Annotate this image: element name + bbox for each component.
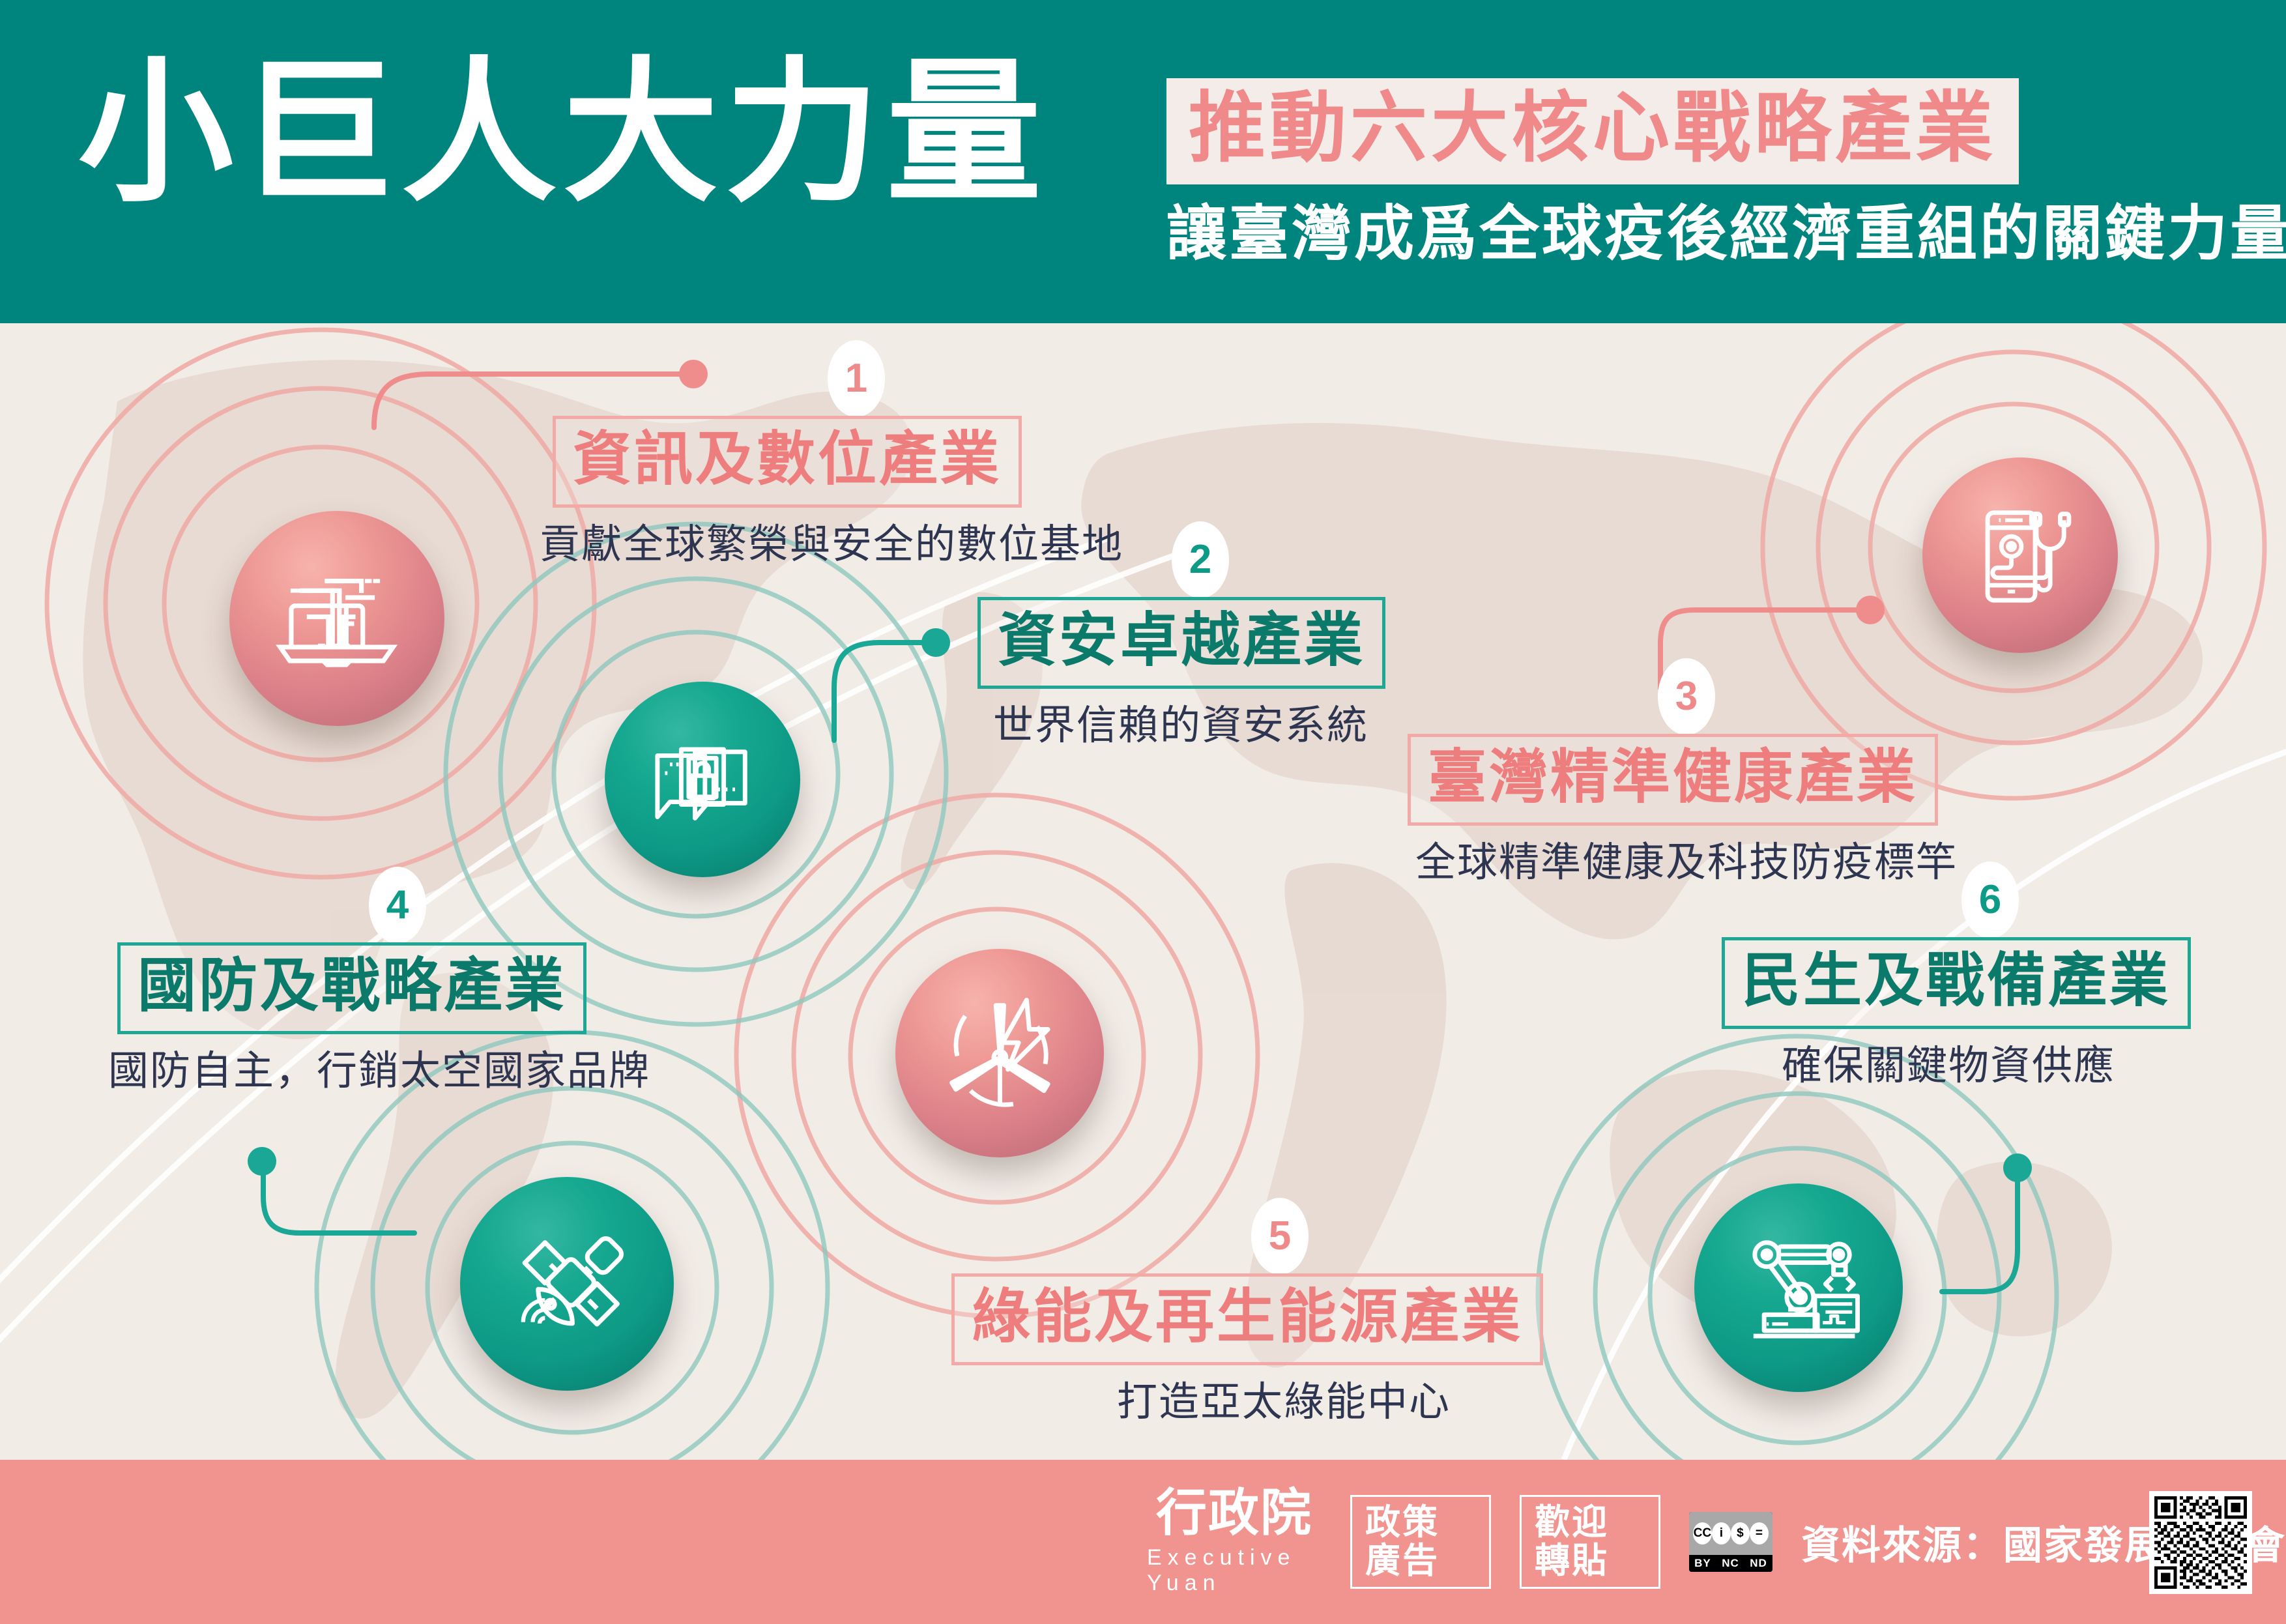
- share-welcome-tag: 歡迎轉貼: [1520, 1495, 1660, 1589]
- chat-lock-icon: [640, 717, 765, 842]
- satellite-icon: [499, 1215, 635, 1352]
- icon-sphere-5: [895, 949, 1104, 1157]
- org-name-en: Executive Yuan: [1147, 1545, 1322, 1596]
- poster-footer: 行政院 Executive Yuan 政策廣告 歡迎轉貼 CC i $ = BY…: [0, 1460, 2286, 1624]
- cc-labels-row: BY NC ND: [1689, 1555, 1772, 1572]
- robot-arm-icon: [1732, 1221, 1866, 1355]
- item-5-number: 5: [1251, 1198, 1309, 1275]
- item-1-number: 1: [828, 340, 885, 417]
- item-2-subtitle: 世界信賴的資安系統: [993, 702, 1385, 750]
- creative-commons-badge: CC i $ = BY NC ND: [1689, 1512, 1772, 1572]
- qr-code-image: [2154, 1496, 2247, 1589]
- header-tagline: 讓臺灣成爲全球疫後經濟重組的關鍵力量: [1166, 201, 2209, 267]
- item-3-title: 臺灣精準健康產業: [1408, 734, 1938, 826]
- item-1-title: 資訊及數位產業: [553, 416, 1022, 508]
- item-1-subtitle: 貢獻全球繁榮與安全的數位基地: [540, 521, 1123, 569]
- cc-by-icon: i: [1712, 1522, 1731, 1544]
- header-subtitle-box: 推動六大核心戰略產業: [1166, 78, 2019, 184]
- page-title: 小巨人大力量: [78, 56, 1048, 211]
- cc-icon: CC: [1693, 1522, 1712, 1544]
- smartphone-stethoscope-icon: [1958, 493, 2083, 618]
- cc-label-nd: ND: [1750, 1557, 1767, 1570]
- icon-sphere-4: [460, 1177, 674, 1391]
- item-4-title: 國防及戰略產業: [117, 942, 586, 1034]
- cc-icons-row: CC i $ =: [1689, 1512, 1772, 1555]
- item-6-subtitle: 確保關鍵物資供應: [1782, 1042, 2191, 1090]
- item-6-title: 民生及戰備產業: [1722, 937, 2191, 1029]
- item-5-title: 綠能及再生能源產業: [951, 1273, 1543, 1365]
- wind-turbine-bolt-icon: [933, 987, 1067, 1120]
- infographic-poster: 小巨人大力量 推動六大核心戰略產業 讓臺灣成爲全球疫後經濟重組的關鍵力量: [0, 0, 2286, 1624]
- laptop-circuit-icon: [268, 549, 405, 687]
- item-2-number: 2: [1172, 521, 1229, 598]
- executive-yuan-logo: 行政院 Executive Yuan: [1147, 1488, 1322, 1596]
- policy-ad-tag: 政策廣告: [1350, 1495, 1491, 1589]
- footer-content: 行政院 Executive Yuan 政策廣告 歡迎轉貼 CC i $ = BY…: [1147, 1460, 2286, 1624]
- header-right-block: 推動六大核心戰略產業 讓臺灣成爲全球疫後經濟重組的關鍵力量: [1166, 78, 2209, 268]
- poster-header: 小巨人大力量 推動六大核心戰略產業 讓臺灣成爲全球疫後經濟重組的關鍵力量: [0, 0, 2286, 323]
- org-name-cn: 行政院: [1156, 1488, 1312, 1539]
- icon-sphere-1: [229, 511, 444, 726]
- item-3-number: 3: [1658, 658, 1715, 735]
- cc-label-by: BY: [1694, 1557, 1711, 1570]
- item-3-subtitle: 全球精準健康及科技防疫標竿: [1415, 839, 1958, 887]
- icon-sphere-3: [1922, 457, 2118, 653]
- cc-nc-icon: $: [1731, 1522, 1750, 1544]
- qr-code[interactable]: [2149, 1491, 2252, 1594]
- item-4-subtitle: 國防自主，行銷太空國家品牌: [108, 1047, 650, 1095]
- item-4-number: 4: [369, 867, 426, 944]
- item-2-title: 資安卓越產業: [977, 597, 1385, 689]
- item-6-number: 6: [1961, 862, 2019, 938]
- icon-sphere-6: [1694, 1183, 1903, 1392]
- cc-label-nc: NC: [1722, 1557, 1739, 1570]
- icon-sphere-2: [605, 682, 800, 877]
- cc-nd-icon: =: [1750, 1522, 1769, 1544]
- item-5-subtitle: 打造亞太綠能中心: [1117, 1378, 1543, 1427]
- header-subtitle: 推動六大核心戰略產業: [1189, 87, 1997, 170]
